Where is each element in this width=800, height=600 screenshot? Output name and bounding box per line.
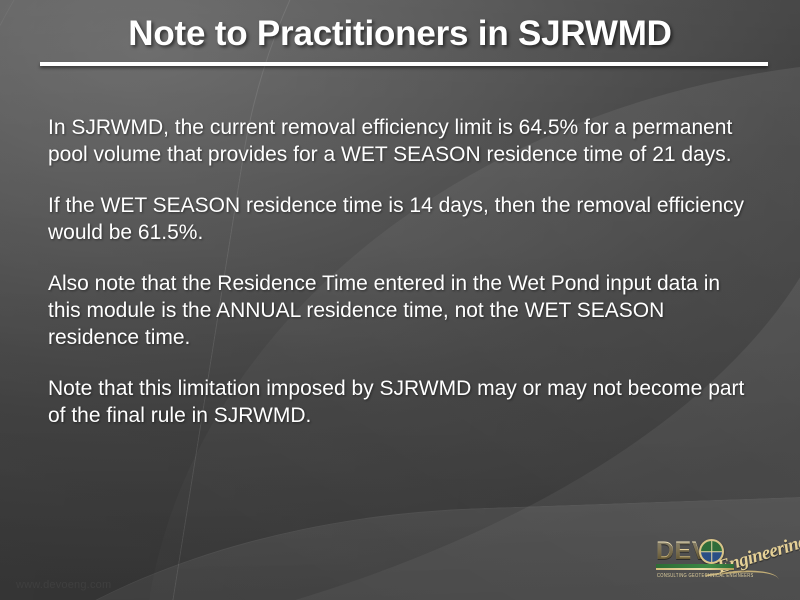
presentation-slide: Note to Practitioners in SJRWMD In SJRWM… [0, 0, 800, 600]
slide-title: Note to Practitioners in SJRWMD [0, 14, 800, 54]
devo-engineering-logo: DEV Engineering CONSULTING GEOTECHNICAL … [656, 534, 778, 588]
slide-body: In SJRWMD, the current removal efficienc… [48, 114, 754, 429]
logo-gold-bar [656, 568, 734, 570]
body-paragraph: In SJRWMD, the current removal efficienc… [48, 114, 754, 168]
body-paragraph: Also note that the Residence Time entere… [48, 270, 754, 351]
body-paragraph: Note that this limitation imposed by SJR… [48, 375, 754, 429]
title-underline-rule [40, 62, 768, 66]
body-paragraph: If the WET SEASON residence time is 14 d… [48, 192, 754, 246]
website-url: www.devoeng.com [16, 579, 111, 591]
logo-tagline: CONSULTING GEOTECHNICAL ENGINEERS [657, 572, 754, 578]
